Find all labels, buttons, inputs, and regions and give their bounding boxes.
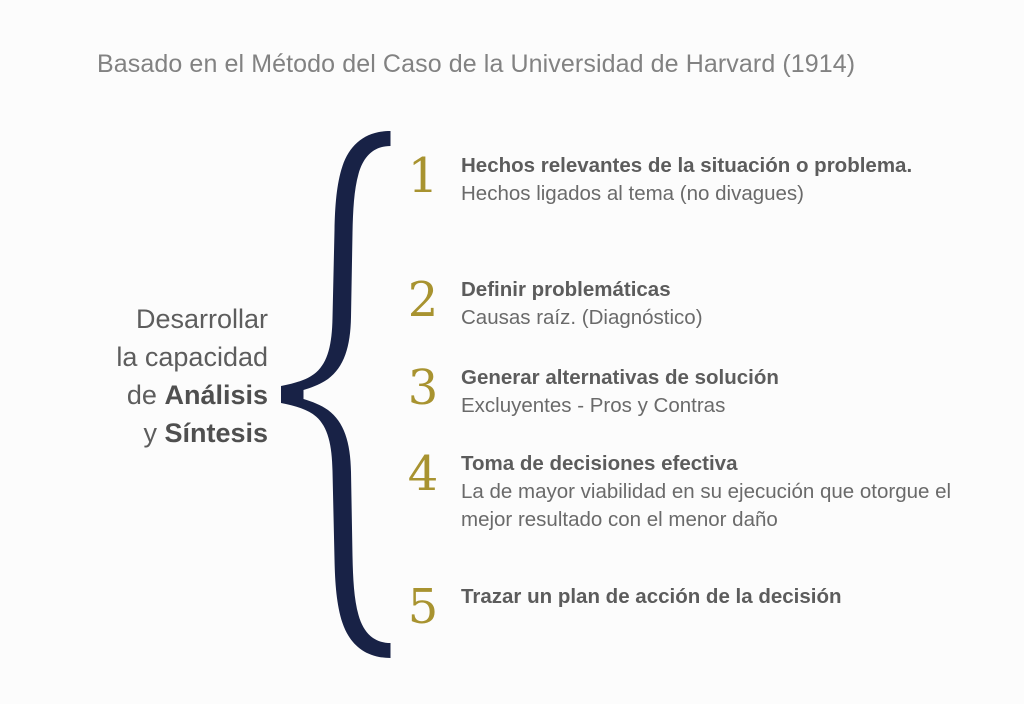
step-number-2: 2 [398,276,448,324]
left-label-line-3: de Análisis [28,376,268,414]
slide-header-text: Basado en el Método del Caso de la Unive… [97,50,855,79]
step-text-2: Definir problemáticasCausas raíz. (Diagn… [461,276,981,332]
step-text-2-bold: Definir problemáticas [461,278,671,301]
step-number-4: 4 [398,450,448,498]
step-text-4: Toma de decisiones efectivaLa de mayor v… [461,450,981,534]
left-label-line-4: y Síntesis [28,414,268,452]
step-text-5: Trazar un plan de acción de la decisión [461,583,981,611]
left-label-line-4-bold: Síntesis [164,418,268,448]
curly-brace-icon [262,122,412,667]
step-text-1-bold: Hechos relevantes de la situación o prob… [461,154,912,177]
left-label-line-1: Desarrollar [28,300,268,338]
step-text-3-bold: Generar alternativas de solución [461,366,779,389]
step-text-3: Generar alternativas de soluciónExcluyen… [461,364,981,420]
left-label-line-4-regular: y [143,418,164,448]
step-number-3: 3 [398,364,448,412]
step-text-3-regular: Excluyentes - Pros y Contras [461,394,725,417]
step-text-1: Hechos relevantes de la situación o prob… [461,152,981,208]
left-label-line-2: la capacidad [28,338,268,376]
step-text-2-regular: Causas raíz. (Diagnóstico) [461,306,703,329]
slide-canvas: Basado en el Método del Caso de la Unive… [0,0,1024,704]
step-text-4-bold: Toma de decisiones efectiva [461,452,737,475]
step-text-4-regular: La de mayor viabilidad en su ejecución q… [461,480,951,531]
step-number-1: 1 [398,152,448,200]
step-text-1-regular: Hechos ligados al tema (no divagues) [461,182,804,205]
left-capacity-label: Desarrollar la capacidad de Análisis y S… [28,300,268,452]
left-label-line-3-regular: de [127,380,165,410]
left-label-line-3-bold: Análisis [164,380,268,410]
step-number-5: 5 [398,583,448,631]
step-text-5-bold: Trazar un plan de acción de la decisión [461,585,842,608]
